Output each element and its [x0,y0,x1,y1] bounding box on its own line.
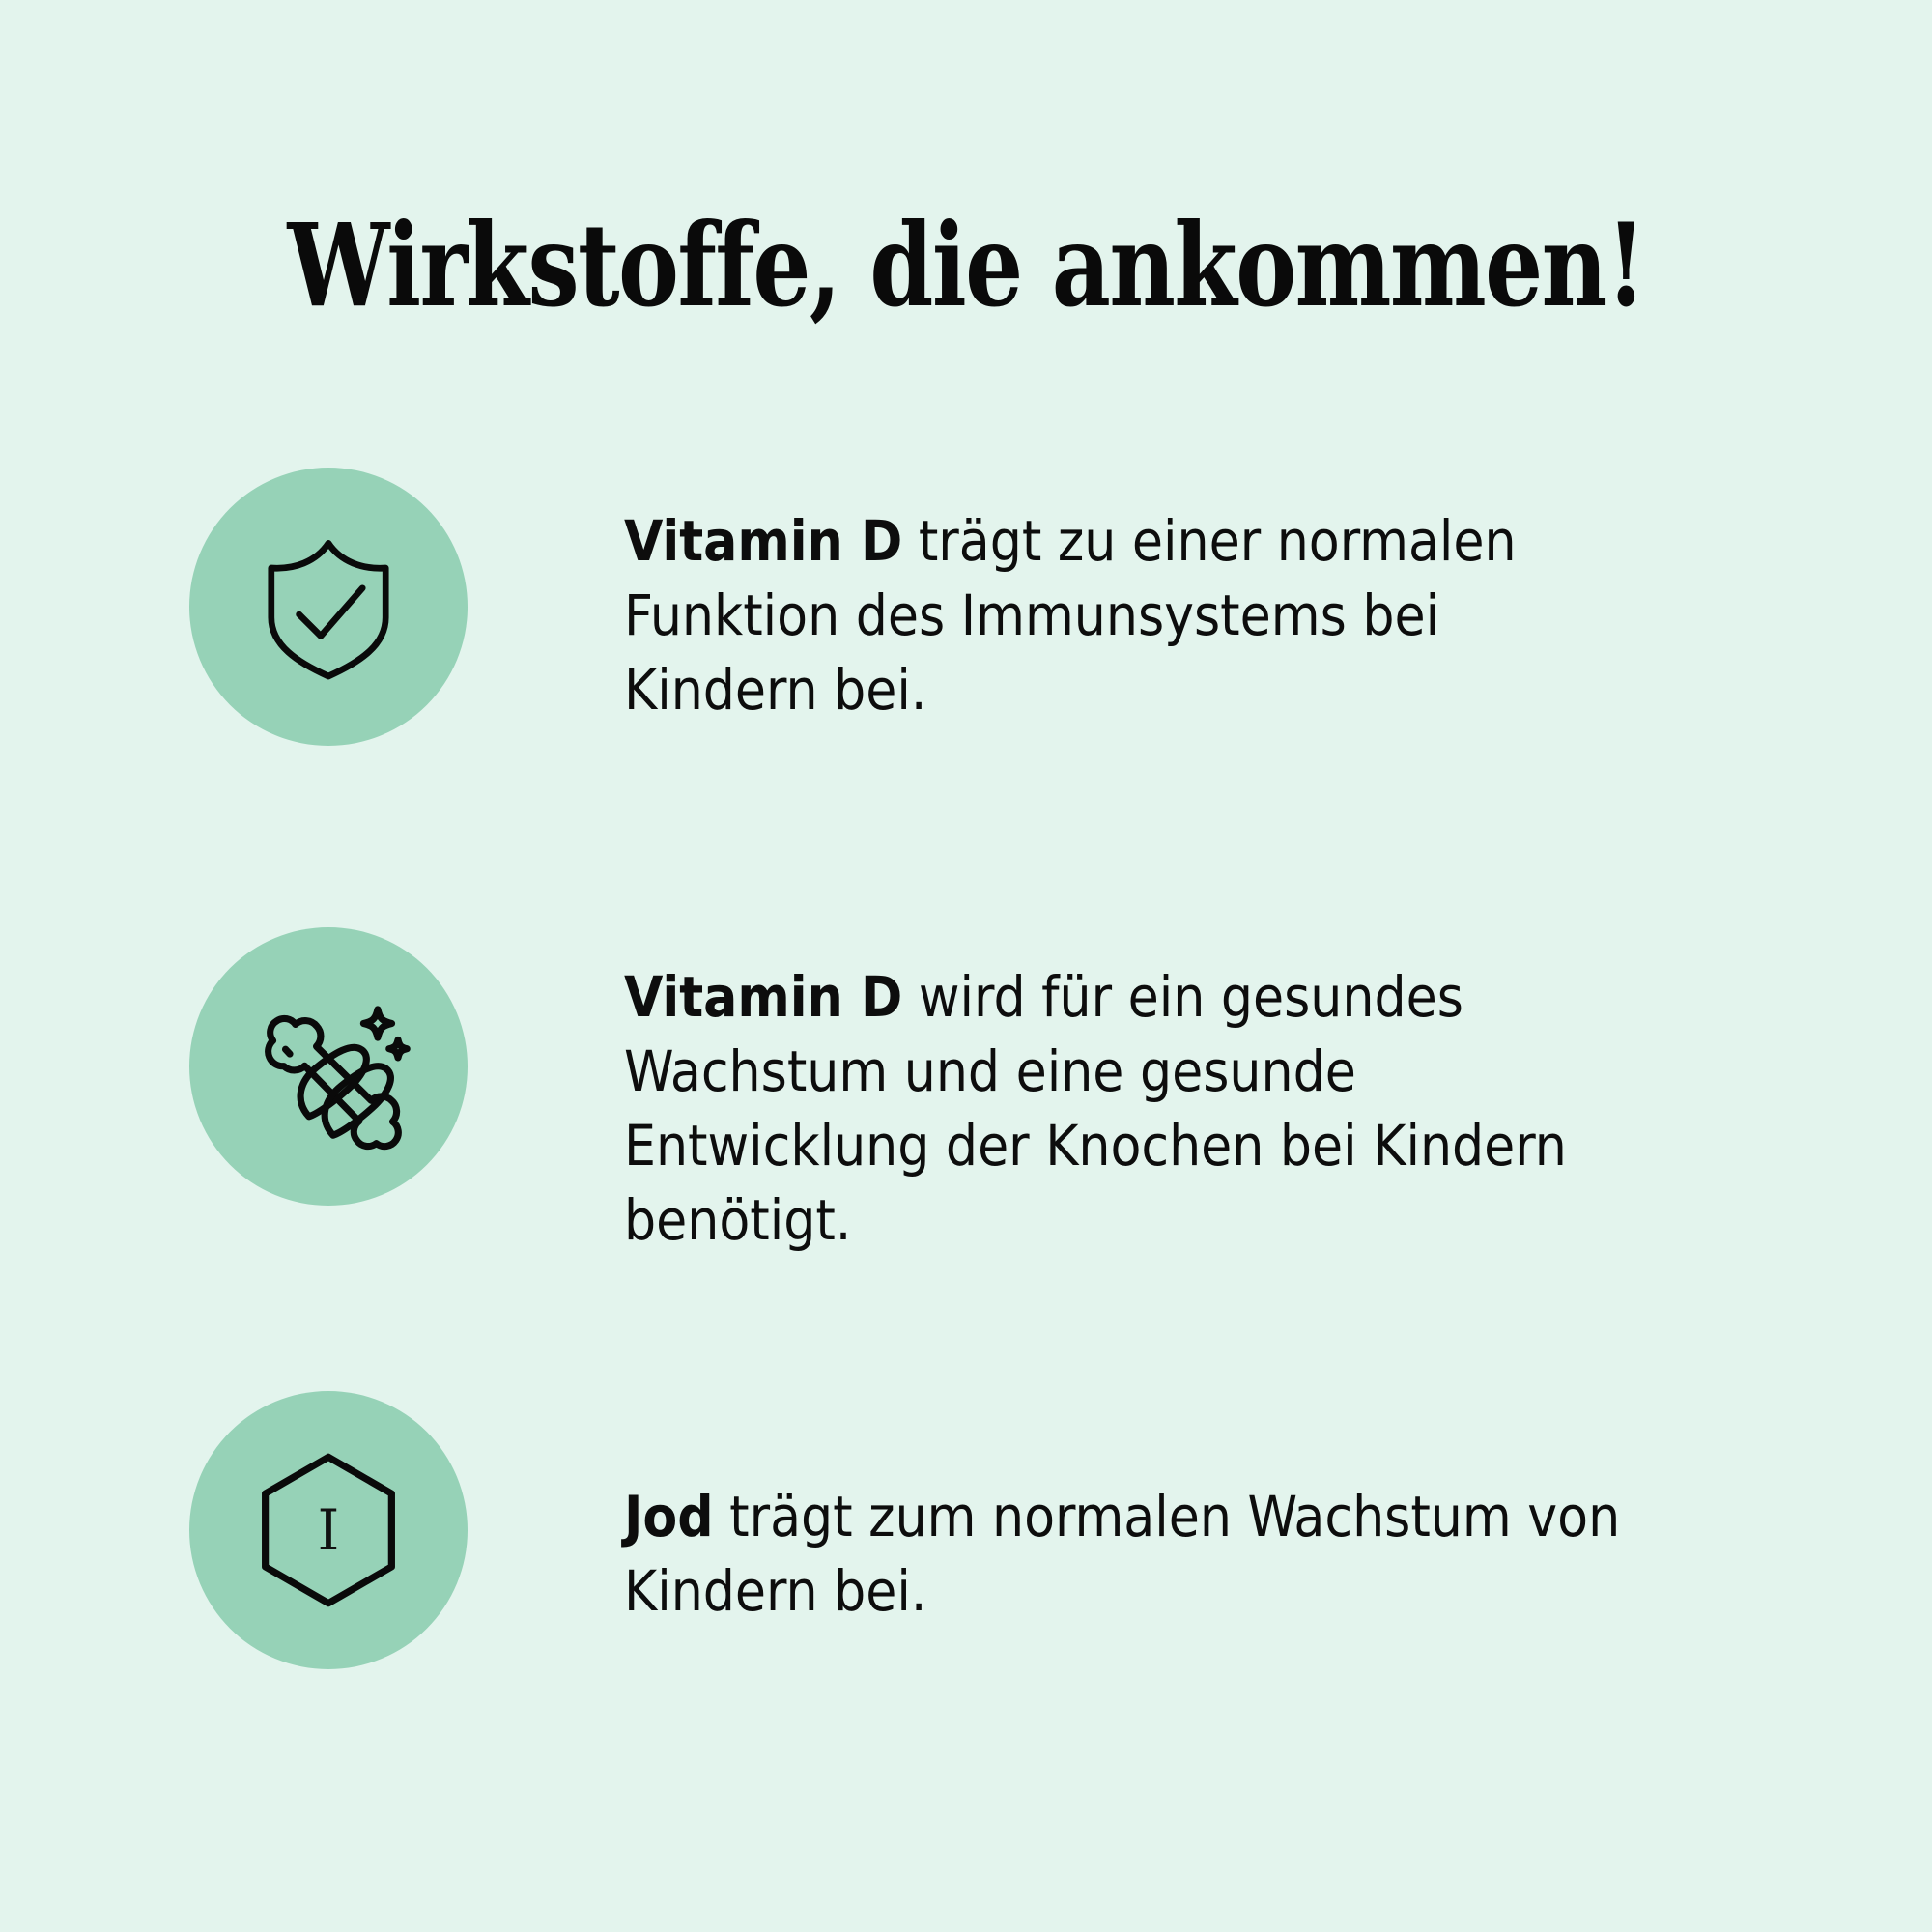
benefit-body-3: trägt zum normalen Wachstum von Kindern … [624,1484,1620,1624]
icon-badge-iodine: I [189,1391,468,1669]
benefit-row-vitamin-d-immune: Vitamin D trägt zu einer normalen Funkti… [189,468,1648,746]
page-title: Wirkstoffe, die ankommen! [193,209,1739,323]
infographic-page: Wirkstoffe, die ankommen! Vitamin D träg… [0,0,1932,1932]
icon-badge-shield [189,468,468,746]
shield-check-icon [251,529,406,684]
benefit-row-vitamin-d-bones: Vitamin D wird für ein gesundes Wachstum… [189,927,1648,1258]
benefit-text-3: Jod trägt zum normalen Wachstum von Kind… [624,1391,1648,1629]
iodine-hexagon-icon: I [245,1447,412,1613]
bone-sparkle-icon [242,980,414,1152]
icon-badge-bone [189,927,468,1206]
benefit-lead-2: Vitamin D [624,964,902,1030]
benefit-lead-3: Jod [624,1484,714,1549]
iodine-symbol-label: I [318,1502,340,1558]
benefit-text-1: Vitamin D trägt zu einer normalen Funkti… [624,468,1648,727]
benefit-text-2: Vitamin D wird für ein gesundes Wachstum… [624,927,1648,1258]
benefit-row-jod-growth: I Jod trägt zum normalen Wachstum von Ki… [189,1391,1648,1669]
benefit-lead-1: Vitamin D [624,508,902,574]
